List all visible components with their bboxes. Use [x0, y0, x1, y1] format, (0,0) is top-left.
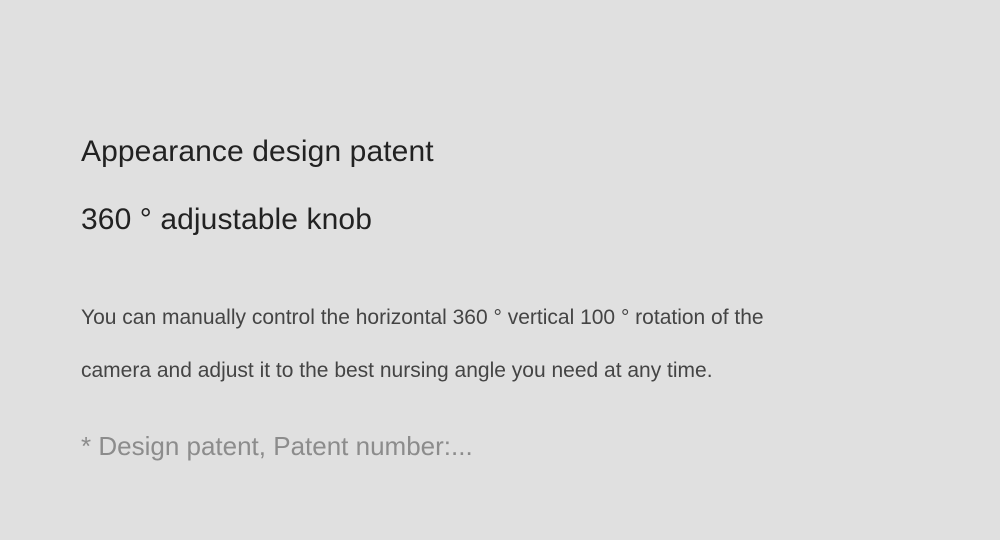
- description-line-2: camera and adjust it to the best nursing…: [81, 344, 941, 397]
- patent-footnote: * Design patent, Patent number:...: [81, 426, 941, 466]
- description-line-1: You can manually control the horizontal …: [81, 291, 941, 344]
- heading-group: Appearance design patent 360 ° adjustabl…: [81, 118, 941, 254]
- heading-line-1: Appearance design patent: [81, 118, 941, 186]
- text-content-block: Appearance design patent 360 ° adjustabl…: [81, 118, 941, 466]
- heading-line-2: 360 ° adjustable knob: [81, 186, 941, 254]
- product-feature-panel: Appearance design patent 360 ° adjustabl…: [0, 0, 1000, 540]
- description-group: You can manually control the horizontal …: [81, 291, 941, 397]
